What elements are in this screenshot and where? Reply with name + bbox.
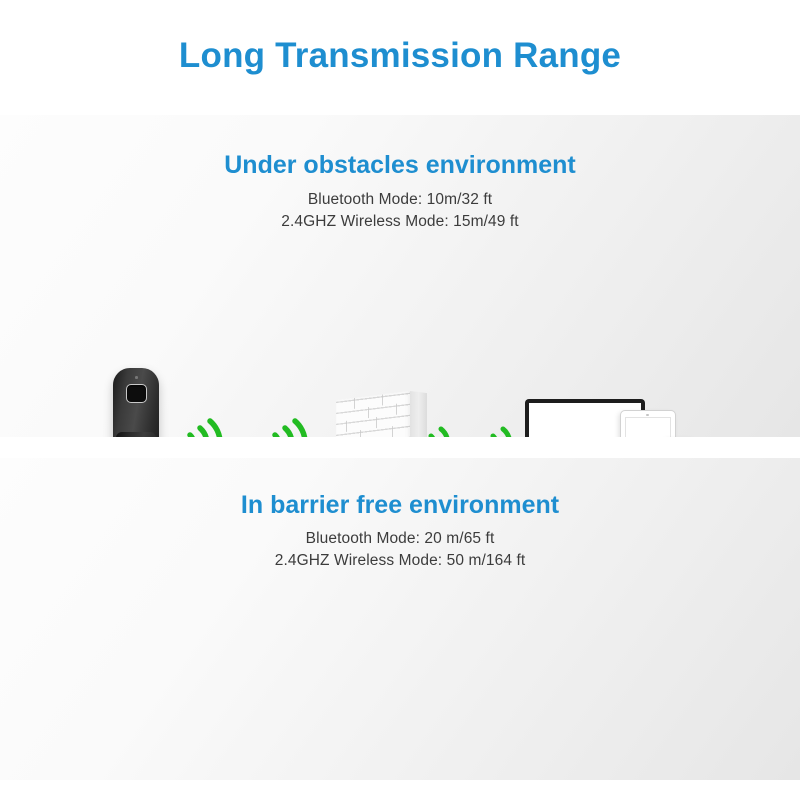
section-1-wireless-mode: 2.4GHZ Wireless Mode: 15m/49 ft xyxy=(0,213,800,231)
section-1-heading: Under obstacles environment xyxy=(0,151,800,180)
signal-wave-icon xyxy=(178,415,224,437)
scanner-button xyxy=(126,384,147,403)
section-1-bluetooth-mode: Bluetooth Mode: 10m/32 ft xyxy=(0,191,800,209)
infographic-page: Long Transmission Range Under obstacles … xyxy=(0,0,800,800)
signal-wave-icon xyxy=(420,422,454,437)
tablet-screen xyxy=(625,417,671,437)
page-title: Long Transmission Range xyxy=(0,36,800,76)
scanner-led-icon xyxy=(135,376,138,379)
device-cluster xyxy=(525,393,700,437)
section-2-wireless-mode: 2.4GHZ Wireless Mode: 50 m/164 ft xyxy=(0,552,800,570)
scanner-lower-body xyxy=(116,432,156,437)
signal-wave-icon xyxy=(482,422,516,437)
barcode-scanner-icon xyxy=(113,368,159,437)
section-under-obstacles: Under obstacles environment Bluetooth Mo… xyxy=(0,115,800,437)
section-barrier-free: In barrier free environment Bluetooth Mo… xyxy=(0,458,800,780)
section-2-bluetooth-mode: Bluetooth Mode: 20 m/65 ft xyxy=(0,530,800,548)
tablet-camera-icon xyxy=(646,414,649,417)
signal-wave-icon xyxy=(263,415,309,437)
section-2-heading: In barrier free environment xyxy=(0,491,800,520)
wall-brick-joints xyxy=(336,391,410,437)
tablet-icon xyxy=(620,410,676,437)
